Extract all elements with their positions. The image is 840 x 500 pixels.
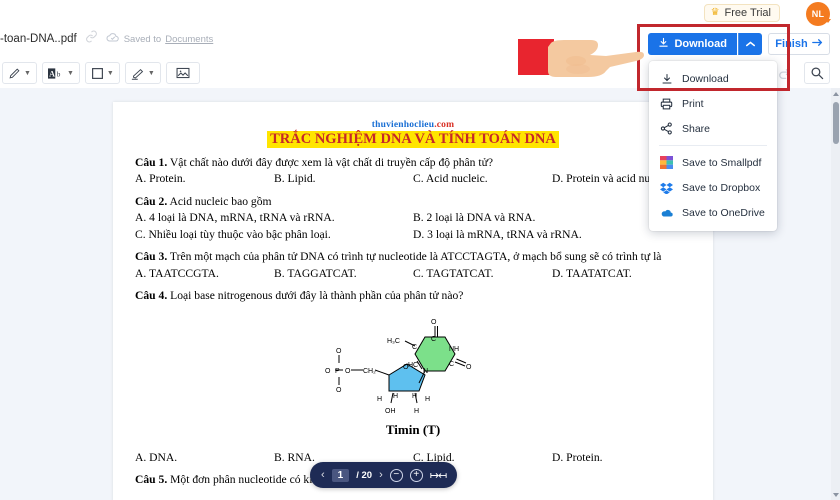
label-h-a: H [377,396,382,403]
zoom-in-button[interactable]: + [410,469,423,482]
menu-item-label: Share [682,123,710,135]
scroll-down-arrow-icon[interactable] [833,493,839,497]
thymine-nucleotide-diagram: O H₃C C C NH HC N C O O P O O O [313,313,513,418]
document-content: thuvienhoclieu.com TRẮC NGHIỆM DNA VÀ TÍ… [113,102,713,489]
finish-button-label: Finish [775,38,807,50]
zoom-out-button[interactable]: − [390,469,403,482]
pencil-icon [8,67,21,80]
option: C. TAGTATCAT. [413,266,552,282]
file-name: -toan-DNA..pdf [0,33,77,45]
chevron-down-icon: ▼ [67,70,74,77]
option: D. TAATATCAT. [552,266,691,282]
download-dropdown-menu: Download Print Share [649,61,777,231]
label-o-right: O [466,364,472,371]
download-button[interactable]: Download [648,33,737,55]
total-pages-label: / 20 [356,470,372,481]
label-nh: NH [449,346,459,353]
question-number: Câu 5. [135,473,167,486]
page-navigation-bar: ‹ 1 / 20 › − + ↦↤ [310,462,457,488]
pointing-hand-icon [518,27,650,92]
saved-status: Saved to Documents [106,32,214,46]
option: B. Lipid. [274,171,413,187]
next-page-button[interactable]: › [379,469,383,481]
chevron-up-icon [746,41,755,47]
question-3-options: A. TAATCCGTA. B. TAGGATCAT. C. TAGTATCAT… [135,266,691,282]
label-oh: OH [385,408,396,415]
label-n: N [423,368,428,375]
avatar-chevron-down-icon[interactable] [825,19,831,23]
question-text: Vật chất nào dưới đây được xem là vật ch… [170,156,493,169]
text-ab-icon: A b [48,67,64,80]
molecule-svg: O H₃C C C NH HC N C O O P O O O [313,313,513,418]
highlighter-icon [131,67,145,80]
option: C. Acid nucleic. [413,171,552,187]
question-4: Câu 4. Loại base nitrogenous dưới đây là… [135,288,691,304]
option: C. Nhiều loại tùy thuộc vào bậc phân loạ… [135,227,413,243]
question-text: Loại base nitrogenous dưới đây là thành … [170,289,463,302]
download-button-label: Download [674,38,727,50]
link-icon[interactable] [85,30,98,48]
question-text: Một đơn phân nucleotide có kích [170,473,323,486]
prev-page-button[interactable]: ‹ [321,469,325,481]
question-text: Trên một mạch của phân tử DNA có trình t… [170,250,662,263]
pdf-page: thuvienhoclieu.com TRẮC NGHIỆM DNA VÀ TÍ… [113,102,713,500]
download-icon [658,37,669,51]
molecule-caption: Timin (T) [135,422,691,438]
dropbox-icon [660,182,673,194]
search-button[interactable] [804,62,830,84]
option: D. Protein. [552,450,691,466]
svg-text:A: A [49,69,55,78]
smallpdf-icon [660,156,673,169]
label-o-dn: O [336,387,342,394]
document-watermark: thuvienhoclieu.com [135,120,691,130]
search-icon [810,66,824,80]
watermark-name: thuvienhoclieu [372,120,434,130]
question-number: Câu 2. [135,195,167,208]
document-title: TRẮC NGHIỆM DNA VÀ TÍNH TOÁN DNA [267,131,559,148]
menu-item-save-dropbox[interactable]: Save to Dropbox [649,175,777,200]
free-trial-badge[interactable]: ♛ Free Trial [704,4,780,22]
label-c3: C [449,361,454,368]
svg-text:b: b [57,70,61,78]
menu-item-save-smallpdf[interactable]: Save to Smallpdf [649,150,777,175]
label-o-left: O [325,368,331,375]
chevron-down-icon: ▼ [24,70,31,77]
finish-button[interactable]: Finish [768,33,830,55]
menu-item-print[interactable]: Print [649,91,777,116]
question-3: Câu 3. Trên một mạch của phân tử DNA có … [135,249,691,265]
share-icon [660,122,673,135]
onedrive-icon [660,208,673,218]
fit-width-button[interactable]: ↦↤ [430,469,446,482]
arrow-right-icon [812,38,823,50]
label-p: P [335,368,340,375]
chevron-down-icon: ▼ [107,70,114,77]
question-number: Câu 1. [135,156,167,169]
question-2: Câu 2. Acid nucleic bao gồm [135,194,691,210]
label-c2: C [431,336,436,343]
question-1: Câu 1. Vật chất nào dưới đây được xem là… [135,155,691,171]
menu-item-label: Save to OneDrive [682,207,765,219]
watermark-tld: .com [434,120,454,130]
scrollbar-thumb[interactable] [833,102,839,144]
label-o-top: O [431,319,437,326]
top-bar: ♛ Free Trial NL [0,0,840,26]
option: A. 4 loại là DNA, mRNA, tRNA và rRNA. [135,210,413,226]
menu-item-label: Save to Dropbox [682,182,760,194]
saved-prefix: Saved to [124,34,162,45]
option: A. Protein. [135,171,274,187]
question-number: Câu 4. [135,289,167,302]
app-window: ♛ Free Trial NL -toan-DNA..pdf Saved to … [0,0,840,500]
square-icon [91,67,104,80]
question-1-options: A. Protein. B. Lipid. C. Acid nucleic. D… [135,171,691,187]
image-icon [176,67,190,79]
label-h-e: H [414,408,419,415]
menu-item-label: Download [682,73,729,85]
label-h3c: H₃C [387,338,400,345]
highlight-tool[interactable]: ▼ [125,62,161,84]
menu-item-label: Save to Smallpdf [682,157,761,169]
label-h-c: H [412,393,417,400]
label-h-d: H [425,396,430,403]
viewer-scrollbar[interactable] [831,88,840,500]
download-icon [660,73,673,85]
current-page-input[interactable]: 1 [332,469,350,482]
menu-item-share[interactable]: Share [649,116,777,141]
printer-icon [660,98,673,110]
option: A. DNA. [135,450,274,466]
label-hc: HC [408,362,418,369]
saved-target-link[interactable]: Documents [165,34,213,45]
question-2-options-row1: A. 4 loại là DNA, mRNA, tRNA và rRNA. B.… [135,210,691,226]
shape-tool[interactable]: ▼ [85,62,120,84]
free-trial-label: Free Trial [725,7,771,19]
label-o-mid: O [345,368,351,375]
chevron-down-icon: ▼ [148,70,155,77]
menu-item-download[interactable]: Download [649,66,777,91]
question-2-options-row2: C. Nhiều loại tùy thuộc vào bậc phân loạ… [135,227,691,243]
draw-tool[interactable]: ▼ [2,62,37,84]
question-number: Câu 3. [135,250,167,263]
scroll-up-arrow-icon[interactable] [833,92,839,96]
option: A. TAATCCGTA. [135,266,274,282]
label-o-up: O [336,348,342,355]
menu-divider [659,145,767,146]
question-text: Acid nucleic bao gồm [169,195,271,208]
label-o-ring: O [403,364,409,371]
crown-icon: ♛ [711,8,720,18]
smallpdf-glyph [660,156,673,169]
option: B. TAGGATCAT. [274,266,413,282]
cloud-check-icon [106,32,120,46]
menu-item-label: Print [682,98,704,110]
avatar-initials: NL [812,9,825,19]
label-ch2: CH₂ [363,368,376,375]
image-tool[interactable] [166,62,200,84]
download-dropdown-toggle[interactable] [738,33,762,55]
label-c1: C [412,344,417,351]
label-h-b: H [393,393,398,400]
menu-item-save-onedrive[interactable]: Save to OneDrive [649,200,777,225]
text-tool[interactable]: A b ▼ [42,62,80,84]
